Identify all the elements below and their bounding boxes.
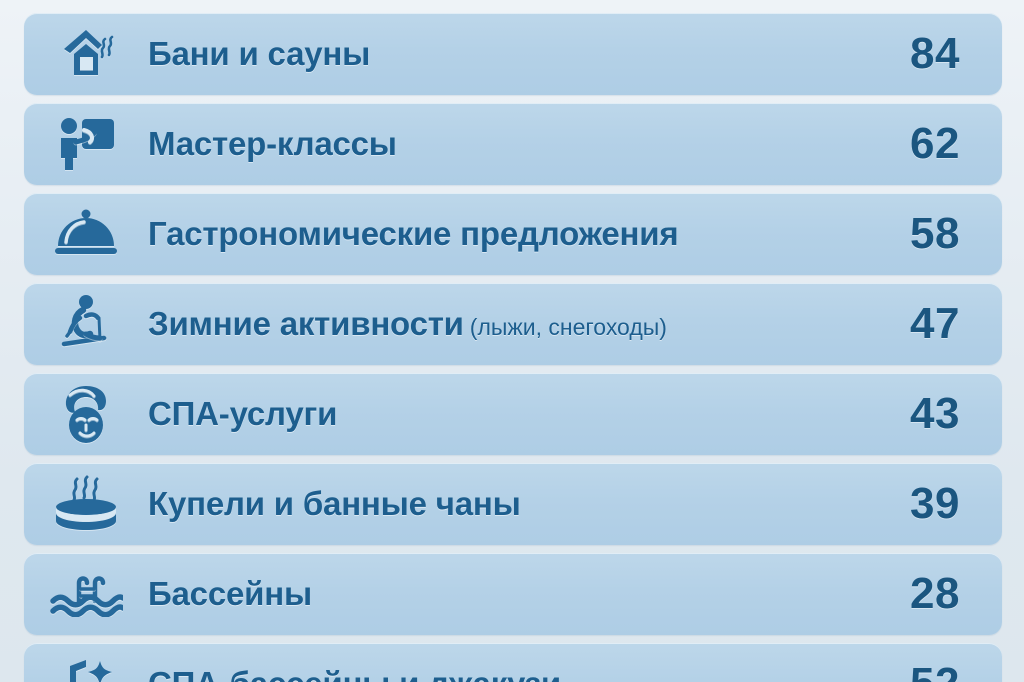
list-item[interactable]: Гастрономические предложения 58 [24, 193, 1002, 275]
list-item-label: Гастрономические предложения [148, 215, 862, 253]
list-item-sublabel: (лыжи, снегоходы) [470, 314, 667, 340]
list-item-label: СПА-бассейны и джакузи [148, 665, 862, 682]
ranked-category-list: Бани и сауны 84 Мастер-классы 62 [0, 0, 1024, 682]
list-item-label: Бани и сауны [148, 35, 862, 73]
pool-ladder-waves-icon [24, 553, 148, 635]
list-item-value: 43 [862, 389, 1002, 439]
list-item-label: Зимние активности(лыжи, снегоходы) [148, 305, 862, 343]
sauna-house-icon [24, 13, 148, 95]
list-item-label: Бассейны [148, 575, 862, 613]
list-item-value: 62 [862, 119, 1002, 169]
list-item-value: 84 [862, 29, 1002, 79]
list-item-value: 39 [862, 479, 1002, 529]
hot-tub-steam-icon [24, 463, 148, 545]
list-item[interactable]: СПА-услуги 43 [24, 373, 1002, 455]
list-item[interactable]: Купели и банные чаны 39 [24, 463, 1002, 545]
list-item[interactable]: Мастер-классы 62 [24, 103, 1002, 185]
spa-face-mask-icon [24, 373, 148, 455]
list-item-value: 28 [862, 569, 1002, 619]
list-item-value: 58 [862, 209, 1002, 259]
list-item[interactable]: Бани и сауны 84 [24, 13, 1002, 95]
skier-icon [24, 283, 148, 365]
list-item-label: Купели и банные чаны [148, 485, 862, 523]
list-item-label: СПА-услуги [148, 395, 862, 433]
presenter-board-icon [24, 103, 148, 185]
food-cloche-icon [24, 193, 148, 275]
list-item[interactable]: СПА-бассейны и джакузи 52 [24, 643, 1002, 682]
music-note-sparkle-icon [24, 643, 148, 682]
list-item-value: 52 [862, 659, 1002, 682]
list-item[interactable]: Зимние активности(лыжи, снегоходы) 47 [24, 283, 1002, 365]
list-item[interactable]: Бассейны 28 [24, 553, 1002, 635]
list-item-value: 47 [862, 299, 1002, 349]
list-item-label: Мастер-классы [148, 125, 862, 163]
